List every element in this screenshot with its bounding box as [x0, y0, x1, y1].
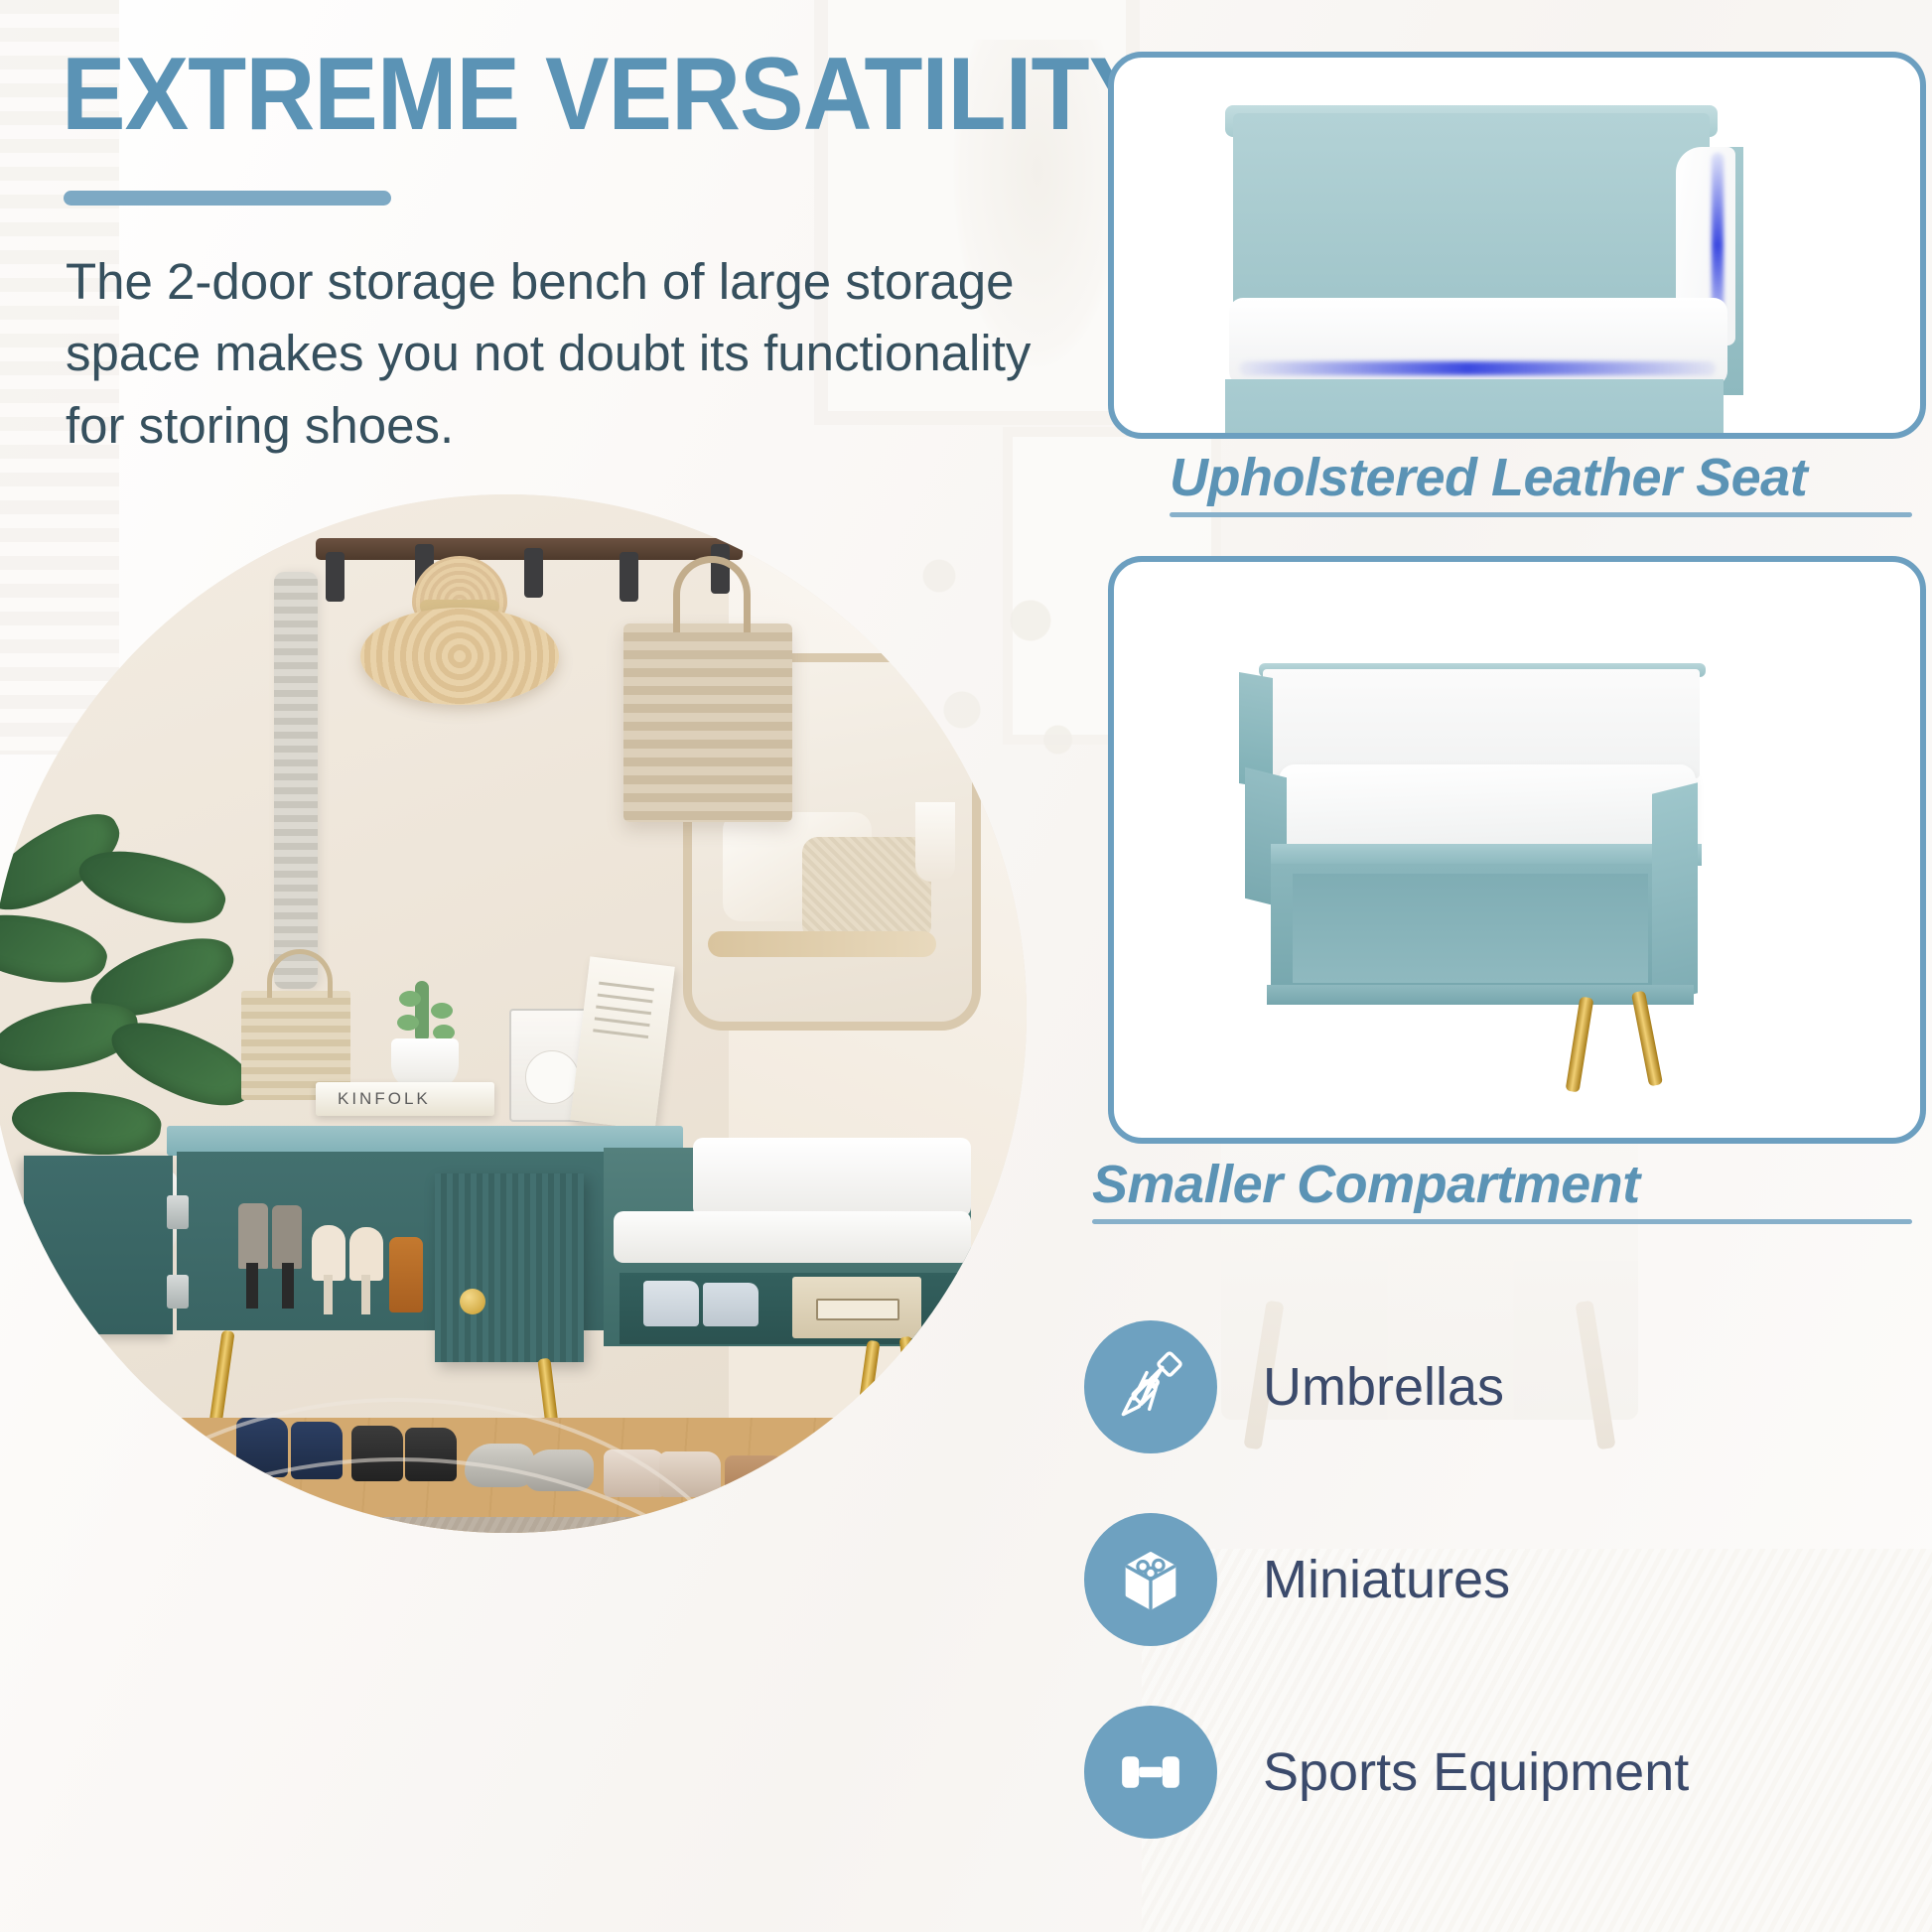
dumbbell-icon-glyph — [1109, 1730, 1192, 1814]
lego-brick-icon — [1084, 1513, 1217, 1646]
feature-row-miniatures: Miniatures — [1084, 1513, 1510, 1646]
card-caption-smaller-compartment: Smaller Compartment — [1092, 1154, 1640, 1215]
boot-heel — [246, 1263, 258, 1309]
shoe-brown-sneaker — [844, 1461, 905, 1509]
heeled-shoe — [312, 1225, 345, 1281]
hat-brim — [360, 608, 559, 705]
door-hinge — [167, 1195, 189, 1229]
coat-hook — [326, 552, 345, 602]
magazine-text-line — [598, 994, 653, 1004]
compartment-inner-surface — [1293, 874, 1648, 983]
photo-book: KINFOLK — [316, 1082, 494, 1116]
shoe-heel — [324, 1275, 333, 1314]
shoe-brown-sneaker — [897, 1463, 959, 1509]
door-hinge — [167, 1275, 189, 1309]
boot — [238, 1203, 268, 1269]
card-caption-upholstered-seat: Upholstered Leather Seat — [1170, 447, 1807, 508]
boot — [272, 1205, 302, 1269]
bench-gold-leg — [1631, 991, 1663, 1087]
clock-face — [525, 1050, 579, 1104]
sneaker — [643, 1281, 699, 1326]
caption-underline — [1170, 512, 1912, 517]
body-paragraph: The 2-door storage bench of large storag… — [66, 246, 1068, 462]
succulent-leaf — [431, 1003, 453, 1019]
magazine-text-line — [595, 1017, 650, 1027]
feature-label-sports-equipment: Sports Equipment — [1263, 1741, 1689, 1803]
bench-shelf-top-rim — [1271, 844, 1702, 866]
bench-seat-cushion — [614, 1211, 971, 1263]
lego-brick-icon-glyph — [1109, 1538, 1192, 1621]
photo-straw-hat — [360, 556, 559, 705]
photo-area-rug — [0, 1517, 1027, 1533]
photo-storage-bench — [8, 1126, 991, 1453]
led-glow-horizontal — [1239, 361, 1716, 375]
photo-succulent — [379, 981, 471, 1090]
magazine-text-line — [596, 1005, 651, 1015]
umbrella-icon-glyph — [1109, 1345, 1192, 1429]
infographic-canvas: EXTREME VERSATILITY The 2-door storage b… — [0, 0, 1932, 1932]
umbrella-icon — [1084, 1320, 1217, 1453]
shoe-tan-loafer — [725, 1455, 786, 1503]
bench-right-door-open — [435, 1173, 584, 1362]
mirror-vase — [915, 802, 955, 882]
storage-box — [792, 1277, 921, 1338]
dumbbell-icon — [1084, 1706, 1217, 1839]
product-card-smaller-compartment — [1108, 556, 1926, 1144]
bench-back-cushion — [693, 1138, 971, 1217]
magazine-text-line — [599, 982, 654, 992]
caption-underline — [1092, 1219, 1912, 1224]
mirror-chair-arm — [708, 931, 936, 957]
product-render-open-compartment — [1231, 669, 1827, 1096]
product-render-led-bench — [1164, 91, 1859, 419]
bench-right-rim — [1652, 782, 1698, 1004]
bench-bottom-edge — [1267, 985, 1694, 1005]
shoe-heel — [361, 1275, 370, 1314]
main-lifestyle-photo: KINFOLK — [0, 494, 1027, 1533]
succulent-stem — [415, 981, 429, 1042]
shoe-tan-loafer — [780, 1457, 842, 1503]
boot-heel — [282, 1263, 294, 1309]
product-card-upholstered-seat — [1108, 52, 1926, 439]
bench-cabinet-body — [1225, 379, 1724, 439]
bench-backrest-white — [1263, 669, 1700, 778]
feature-row-umbrellas: Umbrellas — [1084, 1320, 1504, 1453]
ankle-boot — [389, 1237, 423, 1312]
magazine-text-line — [593, 1029, 648, 1038]
bench-door-knob — [460, 1289, 485, 1314]
photo-hanging-tote-bag — [623, 623, 792, 822]
feature-label-umbrellas: Umbrellas — [1263, 1356, 1504, 1418]
plant-leaf — [0, 900, 112, 996]
page-title: EXTREME VERSATILITY — [62, 42, 994, 147]
title-underline-rule — [64, 191, 391, 206]
sneaker — [703, 1283, 759, 1326]
succulent-leaf — [397, 1015, 419, 1031]
mirror-pillow-textured — [802, 837, 931, 941]
book-title: KINFOLK — [338, 1089, 431, 1109]
bench-shoes-inside — [238, 1203, 427, 1322]
heeled-shoe — [349, 1227, 383, 1281]
bench-gold-leg — [1566, 996, 1594, 1092]
succulent-leaf — [399, 991, 421, 1007]
coat-hook — [620, 552, 638, 602]
feature-label-miniatures: Miniatures — [1263, 1549, 1510, 1610]
bench-left-door-open — [24, 1156, 173, 1334]
tote-handle — [673, 556, 751, 632]
feature-row-sports-equipment: Sports Equipment — [1084, 1706, 1689, 1839]
storage-box-label-plate — [816, 1299, 899, 1320]
